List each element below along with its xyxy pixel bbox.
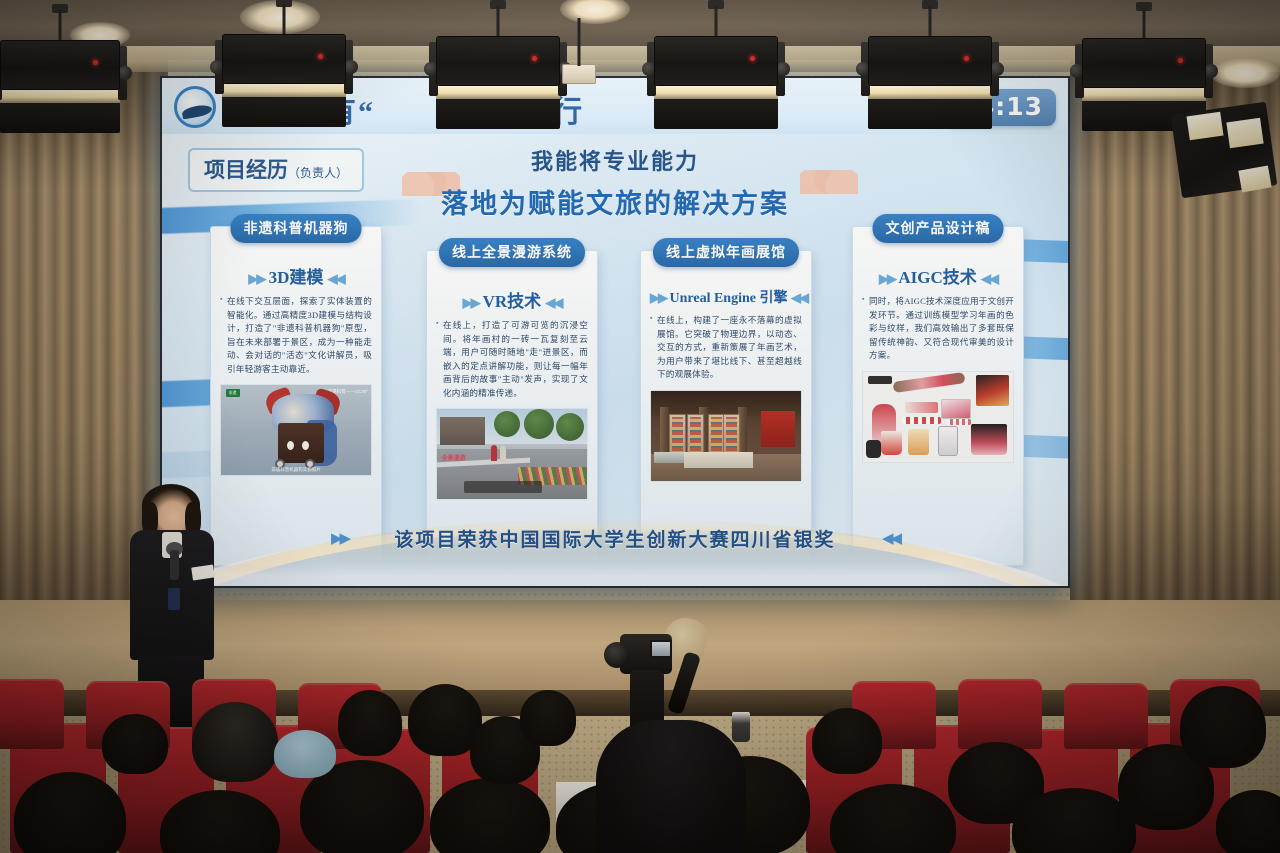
photo-ui-bar [464, 481, 542, 493]
photo-artwork [669, 414, 686, 454]
card-ribbon-title: 文创产品设计稿 [873, 214, 1004, 243]
merch-case [908, 429, 929, 454]
card-photo [862, 371, 1014, 463]
light-lens [0, 90, 120, 103]
light-lens [654, 86, 778, 99]
name-badge [168, 588, 180, 610]
light-head [1082, 38, 1206, 88]
merch-bracelet [947, 419, 971, 425]
stage-light-1 [0, 40, 120, 133]
arrow-right-icon: ▶▶ [331, 530, 348, 547]
power-led-icon [964, 56, 969, 61]
photo-logo-tag: 非遗 [226, 389, 240, 397]
power-led-icon [750, 56, 755, 61]
merch-cup [881, 431, 902, 454]
ceiling-speaker [562, 64, 596, 84]
light-head [0, 40, 120, 90]
stage-light-2 [222, 34, 346, 127]
photo-overlay-text: 全景漫游 [442, 453, 466, 462]
card-photo [650, 390, 802, 482]
light-head [436, 36, 560, 86]
light-lens [868, 86, 992, 99]
stage-light-3 [436, 36, 560, 129]
arrow-right-icon: ▶▶ [248, 271, 264, 286]
card-tech-label: AIGC技术 [898, 268, 976, 287]
stage-light-4 [654, 36, 778, 129]
auditorium-seat [958, 679, 1042, 749]
barn-door [222, 97, 346, 127]
camera-operator [590, 600, 760, 853]
card-tech-label: VR技术 [483, 292, 542, 311]
ceiling-downlight [1210, 58, 1280, 88]
merch-pen [868, 376, 892, 384]
barn-door [0, 103, 120, 133]
photo-display-table [684, 452, 753, 468]
merch-bag [971, 424, 1007, 455]
auditorium-seat [0, 679, 64, 749]
card-ribbon-title: 非遗科普机器狗 [231, 214, 362, 243]
card-photo: 全景漫游 [436, 408, 588, 500]
audience-head [102, 714, 168, 774]
card-tech-label: Unreal Engine 引擎 [670, 291, 788, 306]
photo-artwork [723, 414, 740, 454]
arrow-left-icon: ◀◀ [981, 271, 997, 286]
card-tech-label: 3D建模 [269, 268, 324, 287]
auditorium-seat [1064, 683, 1148, 749]
stage-light-7-lens [1186, 112, 1223, 140]
power-led-icon [532, 56, 537, 61]
photo-building [440, 417, 485, 446]
arrow-left-icon: ◀◀ [791, 290, 807, 305]
card-grid: 非遗科普机器狗 ▶▶ 3D建模 ◀◀ 在线下交互层面，探索了实体装置的智能化。通… [162, 78, 1068, 586]
arrow-right-icon: ▶▶ [879, 271, 895, 286]
photo-pedestrian [500, 446, 506, 462]
merch-umbrella [893, 372, 966, 393]
operator-silhouette [596, 720, 746, 853]
stage-light-7-lens [1226, 118, 1263, 148]
arrow-left-icon: ◀◀ [882, 530, 899, 547]
card-ribbon-title: 线上虚拟年画展馆 [653, 238, 799, 267]
merch-coaster [941, 399, 971, 419]
light-lens [436, 86, 560, 99]
audience-head [520, 690, 576, 746]
power-led-icon [318, 54, 323, 59]
photo-pedestrian [491, 445, 497, 461]
audience-head [1180, 686, 1266, 768]
card-body-text: 同时，将AIGC技术深度应用于文创开发环节。通过训练模型学习年画的色彩与纹样，我… [862, 295, 1014, 363]
card-body-text: 在线上，构建了一座永不落幕的虚拟展馆。它突破了物理边界，以动态、交互的方式，重新… [650, 314, 802, 382]
photo-caption: 非遗科普机器狗实物照片 [221, 467, 371, 473]
merch-keychain [866, 440, 881, 458]
award-text: 该项目荣获中国国际大学生创新大赛四川省银奖 [394, 525, 835, 552]
card-tech-heading: ▶▶ AIGC技术 ◀◀ [862, 263, 1014, 288]
audience-head [812, 708, 882, 774]
light-lens [1082, 88, 1206, 101]
arrow-right-icon: ▶▶ [463, 295, 479, 310]
card-body-text: 在线下交互层面，探索了实体装置的智能化。通过高精度3D建模与结构设计，打造了"非… [220, 295, 372, 376]
merch-box [976, 375, 1009, 406]
project-card: 文创产品设计稿 ▶▶ AIGC技术 ◀◀ 同时，将AIGC技术深度应用于文创开发… [852, 226, 1024, 566]
card-tech-heading: ▶▶ 3D建模 ◀◀ [220, 263, 372, 288]
light-head [654, 36, 778, 86]
barn-door [654, 99, 778, 129]
merch-wristband [902, 417, 941, 424]
projection-screen: 我拥有“ ”的执行 04:13 项目经历（负责人） 我能将专业能力 落地为赋能文… [160, 76, 1070, 588]
audience-head-with-cap [274, 730, 336, 778]
arrow-right-icon: ▶▶ [650, 290, 666, 305]
robot-dog-body [278, 423, 324, 463]
merch-phone [938, 426, 958, 457]
barn-door [436, 99, 560, 129]
audience-head [338, 690, 402, 756]
power-led-icon [1178, 58, 1183, 63]
light-lens [222, 84, 346, 97]
photo-red-banner [761, 411, 795, 447]
auditorium-scene: 我拥有“ ”的执行 04:13 项目经历（负责人） 我能将专业能力 落地为赋能文… [0, 0, 1280, 853]
project-card: 非遗科普机器狗 ▶▶ 3D建模 ◀◀ 在线下交互层面，探索了实体装置的智能化。通… [210, 226, 382, 566]
camera-lcd-screen [650, 640, 672, 658]
card-tech-heading: ▶▶ Unreal Engine 引擎 ◀◀ [650, 287, 802, 307]
light-head [222, 34, 346, 84]
microphone [170, 550, 179, 580]
barn-door [868, 99, 992, 129]
audience-head [192, 702, 278, 782]
stage-light-5 [868, 36, 992, 129]
photo-tree [556, 413, 584, 441]
card-body-text: 在线上，打造了可游可览的沉浸空间。将年画村的一砖一瓦复刻至云端，用户可随时随地"… [436, 319, 588, 400]
photo-pillar [660, 407, 669, 457]
slide-footer: ▶▶ 该项目荣获中国国际大学生创新大赛四川省银奖 ◀◀ [162, 525, 1068, 552]
arrow-left-icon: ◀◀ [328, 271, 344, 286]
power-led-icon [93, 60, 98, 65]
arrow-left-icon: ◀◀ [545, 295, 561, 310]
card-photo: 非遗 非遗科普——CC20° 非遗科普机器狗实物照片 [220, 384, 372, 476]
photo-artwork [687, 414, 704, 454]
card-tech-heading: ▶▶ VR技术 ◀◀ [436, 287, 588, 312]
light-head [868, 36, 992, 86]
camera-lens-icon [604, 642, 630, 668]
card-ribbon-title: 线上全景漫游系统 [439, 238, 585, 267]
merch-card [905, 402, 938, 413]
